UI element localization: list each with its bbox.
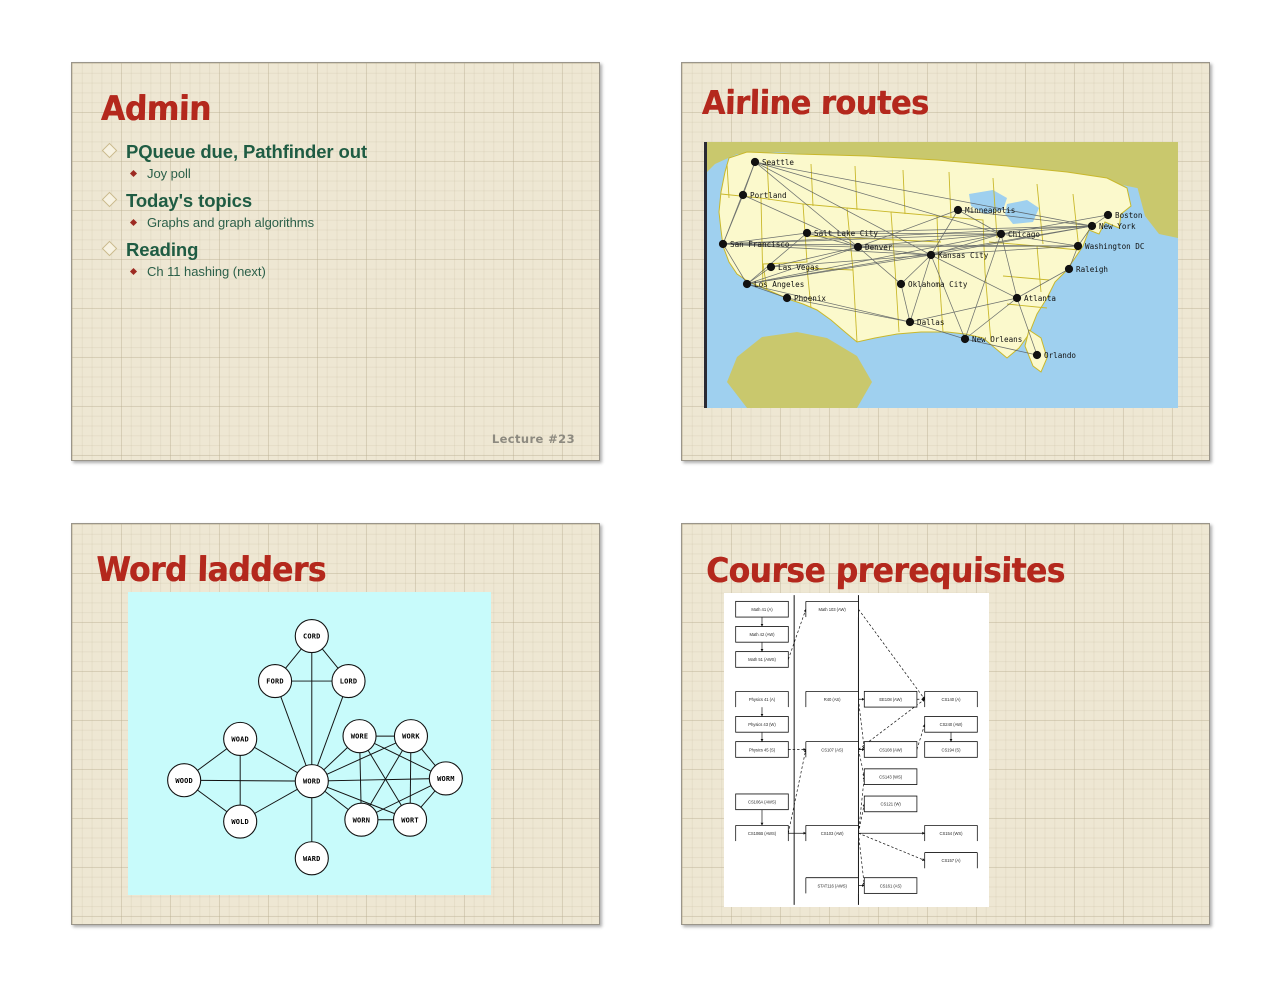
- city-marker[interactable]: San Francisco: [719, 240, 790, 249]
- prereq-course-label: Math 42 (AW): [750, 632, 776, 637]
- prereq-course-box[interactable]: STAT116 (AWS): [806, 878, 859, 894]
- prereq-course-label: Math 51 (AWS): [748, 657, 776, 662]
- prereq-course-label: CS154 (WS): [940, 831, 964, 836]
- city-label: Kansas City: [938, 251, 989, 260]
- prereq-course-label: CS240 (AW): [940, 722, 963, 727]
- word-ladder-graph: CORDFORDLORDWOADWOREWORKWOODWORDWORMWOLD…: [128, 592, 491, 895]
- city-marker[interactable]: Washington DC: [1074, 242, 1145, 251]
- ladder-edge: [312, 778, 446, 781]
- prereq-course-box[interactable]: CS106B (AWS): [736, 825, 789, 841]
- city-label: Atlanta: [1024, 294, 1056, 303]
- city-label: Raleigh: [1076, 265, 1108, 274]
- city-label: Denver: [865, 243, 893, 252]
- prereq-course-label: Math 41 (A): [751, 607, 773, 612]
- ladder-node[interactable]: CORD: [295, 620, 328, 653]
- prereq-course-box[interactable]: CS107 (AS): [806, 742, 859, 758]
- city-label: Dallas: [917, 318, 944, 327]
- prereq-course-box[interactable]: CS108 (AW): [864, 742, 917, 758]
- word-ladder-nodes: CORDFORDLORDWOADWOREWORKWOODWORDWORMWOLD…: [168, 620, 463, 875]
- sub-bullet-label: Ch 11 hashing (next): [147, 264, 266, 279]
- airline-route-map: SeattlePortlandMinneapolisBostonNew York…: [704, 142, 1178, 408]
- prereq-course-box[interactable]: CS106A (AWS): [736, 794, 789, 810]
- diamond-bullet-icon: [102, 192, 118, 208]
- ladder-node[interactable]: WORT: [394, 803, 427, 836]
- ladder-node[interactable]: WORN: [345, 803, 378, 836]
- prereq-course-label: EE108 (AW): [879, 697, 902, 702]
- prereq-course-box[interactable]: CS121 (W): [864, 796, 917, 812]
- ladder-node[interactable]: FORD: [259, 665, 292, 698]
- bullet-item: Today's topics: [104, 190, 544, 212]
- ladder-node-label: WOLD: [231, 818, 249, 826]
- bullet-item: Reading: [104, 239, 544, 261]
- prereq-course-label: CS107 (AS): [821, 747, 843, 752]
- city-label: Las Vegas: [778, 263, 819, 272]
- prereq-course-box[interactable]: Math 41 (A): [736, 601, 789, 617]
- sub-bullet-label: Joy poll: [147, 166, 191, 181]
- prereq-course-box[interactable]: R40 (AS): [806, 691, 859, 707]
- prereq-course-box[interactable]: CS194 (S): [925, 742, 978, 758]
- prereq-course-label: CS103 (AW): [821, 831, 844, 836]
- prereq-course-label: STAT116 (AWS): [817, 883, 847, 888]
- prereq-course-label: CS121 (W): [881, 802, 902, 807]
- city-label: New Orleans: [972, 335, 1022, 344]
- ladder-node[interactable]: WOLD: [224, 805, 257, 838]
- city-marker[interactable]: Denver: [854, 243, 893, 252]
- slide-title-word-ladders: Word ladders: [96, 550, 327, 590]
- city-label: New York: [1099, 222, 1136, 231]
- diamond-bullet-icon: [102, 241, 118, 257]
- slide-title-course-prerequisites: Course prerequisites: [706, 551, 1066, 591]
- bullet-label: Today's topics: [126, 190, 252, 212]
- prereq-course-label: CS108 (AW): [879, 747, 902, 752]
- ladder-node[interactable]: WORD: [295, 765, 328, 798]
- prereq-course-label: CS106A (AWS): [748, 799, 777, 804]
- prereq-course-label: CS157 (A): [941, 858, 961, 863]
- ladder-node-label: WOAD: [231, 735, 249, 743]
- prereq-course-box[interactable]: CS157 (A): [925, 853, 978, 869]
- ladder-node[interactable]: WORM: [429, 762, 462, 795]
- prereq-course-box[interactable]: Physics 41 (A): [736, 691, 789, 707]
- slide-title-admin: Admin: [101, 89, 212, 129]
- course-prerequisite-chart: Math 41 (A)Math 42 (AW)Math 51 (AWS)Phys…: [724, 593, 989, 907]
- ladder-node[interactable]: WORK: [394, 720, 427, 753]
- slide-airline-routes[interactable]: Airline routes: [681, 62, 1210, 461]
- prereq-course-label: Physics 45 (S): [749, 747, 776, 752]
- prereq-course-label: CS194 (S): [941, 747, 961, 752]
- slide-admin[interactable]: Admin PQueue due, Pathfinder out Joy pol…: [71, 62, 600, 461]
- prereq-course-label: CS161 (AS): [880, 883, 902, 888]
- city-label: Orlando: [1044, 351, 1076, 360]
- city-label: Phoenix: [794, 294, 826, 303]
- ladder-node-label: WOOD: [175, 777, 193, 785]
- admin-bullet-list: PQueue due, Pathfinder out Joy poll Toda…: [104, 141, 544, 288]
- small-diamond-bullet-icon: [130, 170, 137, 177]
- prereq-course-box[interactable]: CS240 (AW): [925, 717, 978, 733]
- prereq-course-box[interactable]: Math 51 (AWS): [736, 652, 789, 668]
- small-diamond-bullet-icon: [130, 219, 137, 226]
- city-label: Oklahoma City: [908, 280, 968, 289]
- slide-handout-sheet: Admin PQueue due, Pathfinder out Joy pol…: [0, 0, 1280, 989]
- prereq-course-box[interactable]: CS140 (A): [925, 691, 978, 707]
- prereq-course-label: Physics 41 (A): [749, 697, 776, 702]
- ladder-node-label: WORK: [402, 733, 420, 741]
- city-marker[interactable]: Boston: [1104, 211, 1143, 220]
- city-label: Boston: [1115, 211, 1142, 220]
- ladder-node-label: WARD: [303, 855, 321, 863]
- ladder-node[interactable]: WOOD: [168, 764, 201, 797]
- city-marker[interactable]: Dallas: [906, 318, 945, 327]
- diamond-bullet-icon: [102, 143, 118, 159]
- prereq-course-label: Physics 43 (W): [748, 722, 776, 727]
- prereq-course-label: CS106B (AWS): [748, 831, 777, 836]
- ladder-node-label: FORD: [266, 678, 284, 686]
- ladder-node-label: WORM: [437, 775, 455, 783]
- city-label: San Francisco: [730, 240, 790, 249]
- prereq-course-label: R40 (AS): [824, 697, 841, 702]
- prereq-course-box[interactable]: CS103 (AW): [806, 825, 859, 841]
- prereq-course-label: CS140 (A): [941, 697, 961, 702]
- slide-title-airline-routes: Airline routes: [702, 83, 930, 122]
- prereq-course-box[interactable]: CS154 (WS): [925, 825, 978, 841]
- city-label: Minneapolis: [965, 206, 1015, 215]
- ladder-node-label: CORD: [303, 633, 321, 641]
- sub-bullet-label: Graphs and graph algorithms: [147, 215, 314, 230]
- bullet-label: Reading: [126, 239, 198, 261]
- ladder-node[interactable]: WARD: [295, 842, 328, 875]
- sub-bullet-item: Joy poll: [131, 166, 544, 181]
- sub-bullet-item: Graphs and graph algorithms: [131, 215, 544, 230]
- prereq-course-box[interactable]: CS143 (WS): [864, 769, 917, 785]
- city-label: Washington DC: [1085, 242, 1144, 251]
- bullet-label: PQueue due, Pathfinder out: [126, 141, 367, 163]
- prereq-course-box[interactable]: Physics 45 (S): [736, 742, 789, 758]
- city-label: Seattle: [762, 158, 794, 167]
- bullet-item: PQueue due, Pathfinder out: [104, 141, 544, 163]
- slide-course-prerequisites[interactable]: Course prerequisites Math 41 (A)Math 42 …: [681, 523, 1210, 925]
- city-label: Los Angeles: [754, 280, 804, 289]
- prereq-course-box[interactable]: Math 42 (AW): [736, 626, 789, 642]
- ladder-node-label: WORN: [353, 816, 371, 824]
- ladder-node[interactable]: WORE: [343, 720, 376, 753]
- city-label: Portland: [750, 191, 787, 200]
- prereq-course-box[interactable]: EE108 (AW): [864, 691, 917, 707]
- prereq-course-box[interactable]: CS161 (AS): [864, 878, 917, 894]
- ladder-node-label: WORE: [351, 733, 369, 741]
- prereq-course-label: Math 103 (AW): [819, 607, 847, 612]
- small-diamond-bullet-icon: [130, 268, 137, 275]
- ladder-node-label: WORT: [401, 816, 419, 824]
- city-label: Chicago: [1008, 230, 1040, 239]
- prereq-course-box[interactable]: Physics 43 (W): [736, 717, 789, 733]
- ladder-node-label: WORD: [303, 778, 321, 786]
- city-marker[interactable]: Salt Lake City: [803, 229, 879, 238]
- slide-footer-lecture-number: Lecture #23: [492, 432, 575, 446]
- sub-bullet-item: Ch 11 hashing (next): [131, 264, 544, 279]
- city-label: Salt Lake City: [814, 229, 878, 238]
- ladder-node[interactable]: WOAD: [224, 722, 257, 755]
- ladder-node-label: LORD: [340, 678, 358, 686]
- ladder-edge: [184, 780, 312, 781]
- ladder-node[interactable]: LORD: [332, 665, 365, 698]
- prereq-course-label: CS143 (WS): [879, 774, 903, 779]
- slide-word-ladders[interactable]: Word ladders CORDFORDLORDWOADWOREWORKWOO…: [71, 523, 600, 925]
- city-marker[interactable]: Oklahoma City: [897, 280, 968, 289]
- prereq-course-box[interactable]: Math 103 (AW): [806, 601, 859, 617]
